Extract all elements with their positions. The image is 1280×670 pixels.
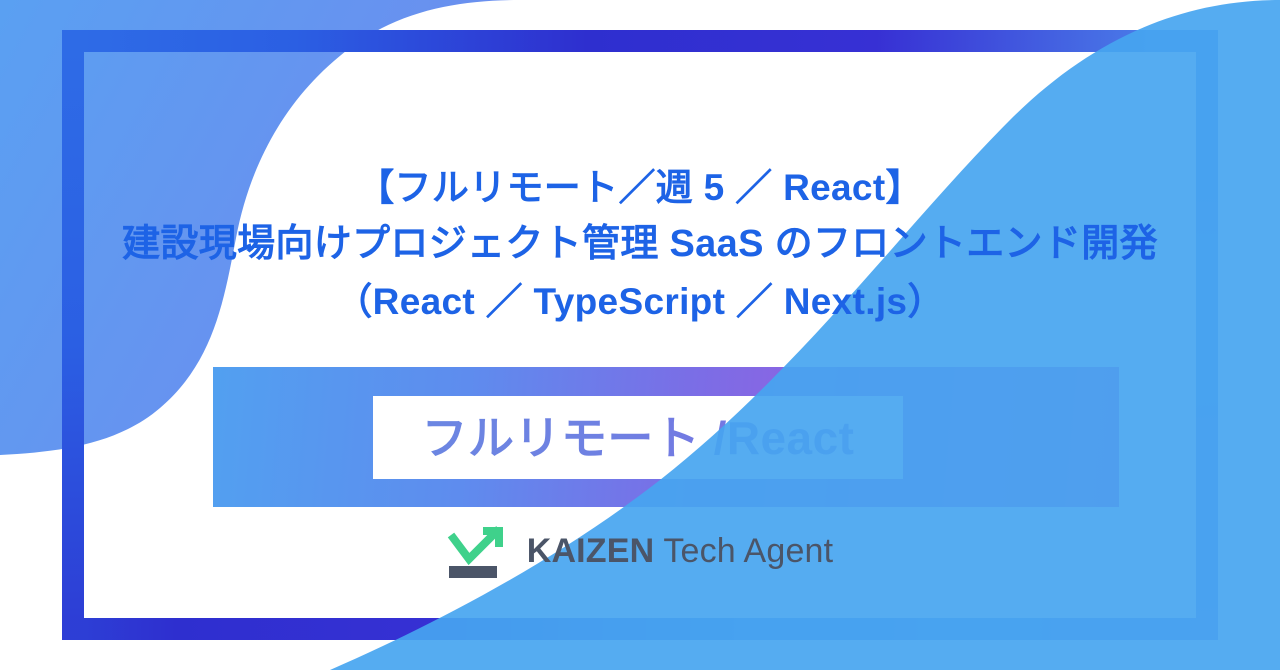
job-banner: フルリモート /React 【フルリモート／週 5 ／ React】 建設現場向… [0,0,1280,670]
banner-content: 【フルリモート／週 5 ／ React】 建設現場向けプロジェクト管理 SaaS… [0,0,1280,670]
growth-arrow-icon [447,521,511,581]
page-title: 【フルリモート／週 5 ／ React】 建設現場向けプロジェクト管理 SaaS… [70,0,1210,330]
logo-wordmark: KAIZEN Tech Agent [527,534,834,568]
headline-line-3: （React ／ TypeScript ／ Next.js） [70,273,1210,330]
logo-brand-suffix: Tech Agent [654,532,833,570]
logo-brand-name: KAIZEN [527,532,655,570]
headline-line-2: 建設現場向けプロジェクト管理 SaaS のフロントエンド開発 [70,216,1210,273]
brand-logo: KAIZEN Tech Agent [0,521,1280,581]
headline-line-1: 【フルリモート／週 5 ／ React】 [70,160,1210,216]
